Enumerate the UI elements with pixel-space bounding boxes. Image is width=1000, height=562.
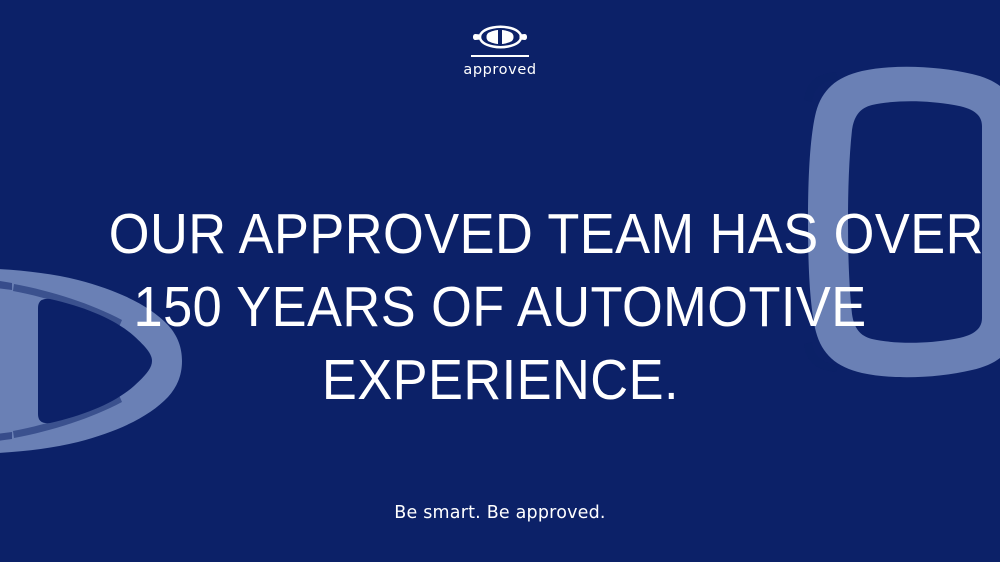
logo-divider [471,55,529,57]
approved-car-logo-icon [472,24,528,50]
brand-logo: approved [0,24,1000,78]
page-title: OUR APPROVED TEAM HAS OVER 150 YEARS OF … [70,198,930,417]
tagline: Be smart. Be approved. [0,503,1000,523]
logo-wordmark: approved [463,62,536,78]
presentation-slide: approved OUR APPROVED TEAM HAS OVER 150 … [0,0,1000,562]
headline-line-1: OUR APPROVED TEAM HAS OVER [109,198,984,271]
headline-line-2: 150 YEARS OF AUTOMOTIVE [133,271,866,344]
headline-line-3: EXPERIENCE. [321,344,678,417]
